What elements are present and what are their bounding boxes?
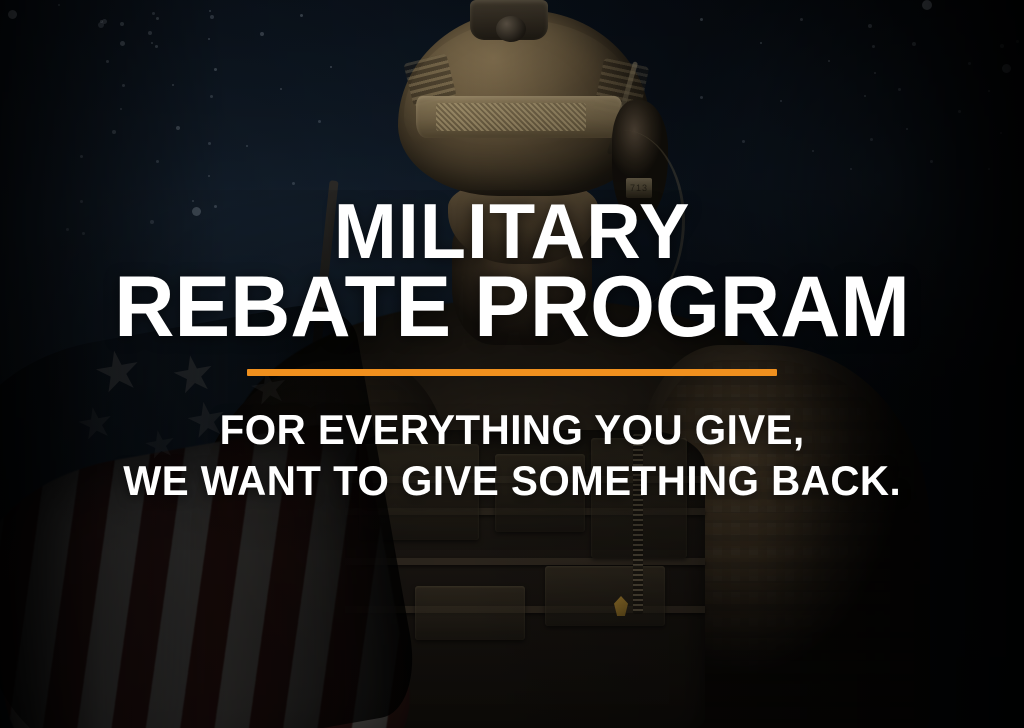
- subtitle: FOR EVERYTHING YOU GIVE, WE WANT TO GIVE…: [123, 404, 901, 506]
- headline-line-1: MILITARY: [114, 196, 910, 268]
- headline-line-2: REBATE PROGRAM: [114, 268, 910, 347]
- orange-divider: [247, 369, 777, 376]
- page-title: MILITARY REBATE PROGRAM: [114, 196, 910, 347]
- military-rebate-banner: 713 MILITARY REBATE PROGRAM FOR EVERYTHI…: [0, 0, 1024, 728]
- subtitle-line-1: FOR EVERYTHING YOU GIVE,: [123, 404, 901, 455]
- banner-content: MILITARY REBATE PROGRAM FOR EVERYTHING Y…: [0, 0, 1024, 728]
- subtitle-line-2: WE WANT TO GIVE SOMETHING BACK.: [123, 455, 901, 506]
